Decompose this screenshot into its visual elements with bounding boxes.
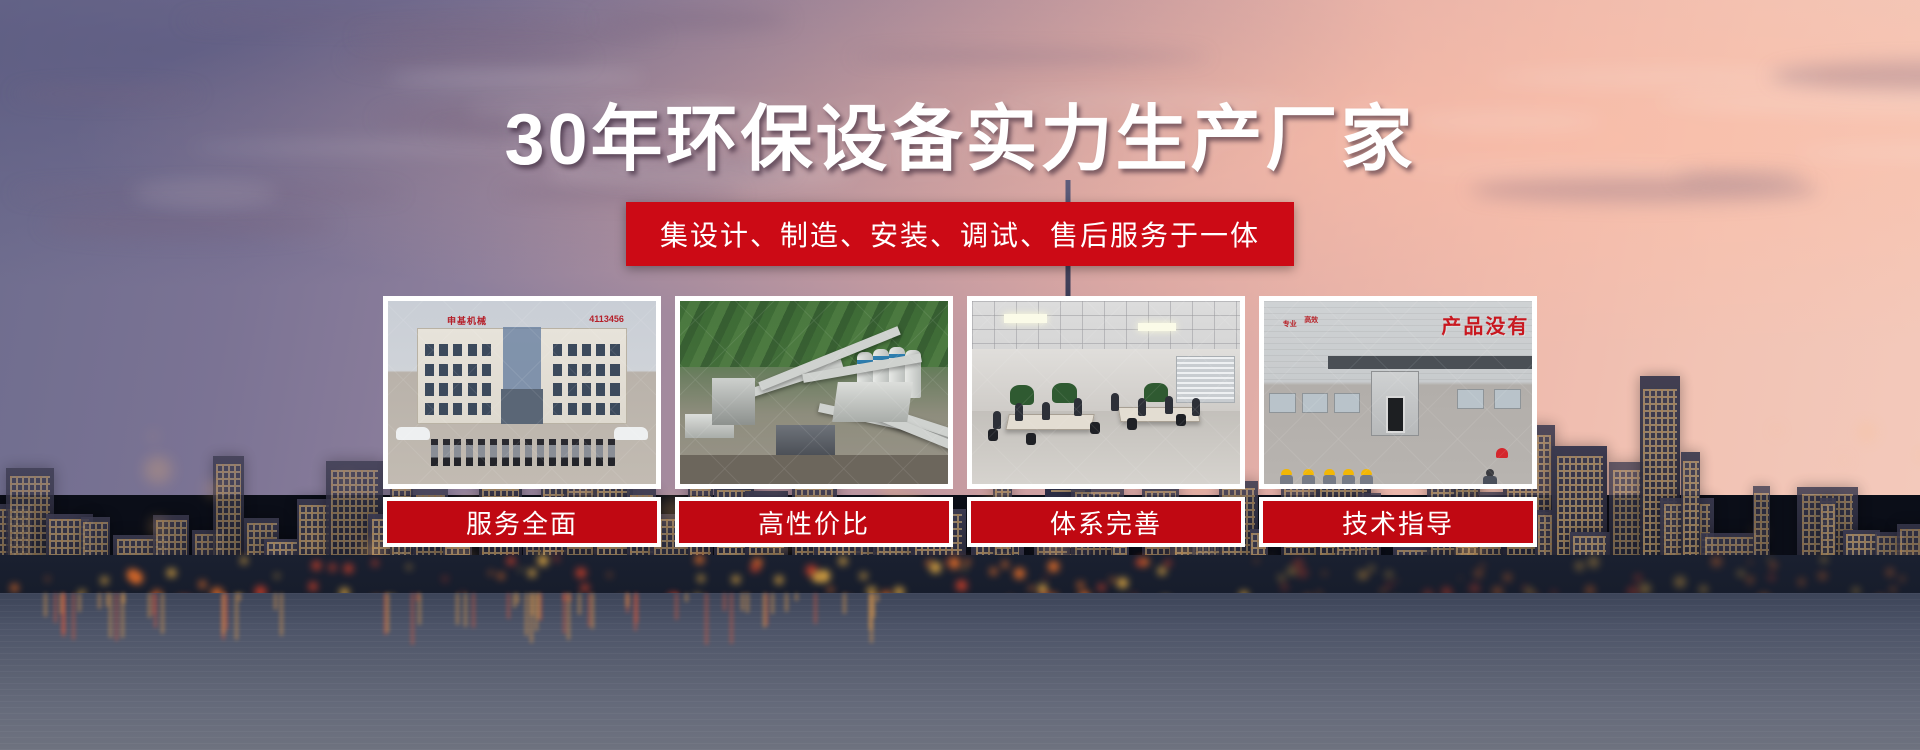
card-photo-industrial-plant — [675, 296, 953, 489]
subtitle-badge: 集设计、制造、安装、调试、售后服务于一体 — [626, 202, 1294, 266]
building-entrance — [501, 389, 544, 424]
building-phone-number: 4113456 — [589, 314, 624, 324]
factory-side-door — [1386, 396, 1405, 433]
feature-card[interactable]: 申基机械 4113456 服务全面 — [383, 296, 661, 547]
factory-window-band — [1328, 356, 1532, 369]
card-label[interactable]: 服务全面 — [383, 497, 661, 547]
card-label[interactable]: 高性价比 — [675, 497, 953, 547]
red-helmet-icon — [1496, 448, 1508, 458]
feature-card-list: 申基机械 4113456 服务全面 — [383, 296, 1537, 547]
window-blinds — [1176, 356, 1235, 404]
card-photo-workers: 产品没有 专业 高效 — [1259, 296, 1537, 489]
card-label[interactable]: 体系完善 — [967, 497, 1245, 547]
banner-content: 30年环保设备实力生产厂家 集设计、制造、安装、调试、售后服务于一体 申基机械 … — [0, 0, 1920, 750]
office-ceiling — [972, 301, 1240, 349]
building-atrium — [503, 327, 541, 393]
factory-sign-text: 产品没有 — [1441, 310, 1529, 339]
feature-card[interactable]: 体系完善 — [967, 296, 1245, 547]
factory-slogan-mid: 高效 — [1304, 317, 1318, 325]
card-label[interactable]: 技术指导 — [1259, 497, 1537, 547]
card-photo-office — [967, 296, 1245, 489]
building-company-sign: 申基机械 — [447, 314, 487, 327]
page-title: 30年环保设备实力生产厂家 — [504, 104, 1415, 176]
hero-banner: 30年环保设备实力生产厂家 集设计、制造、安装、调试、售后服务于一体 申基机械 … — [0, 0, 1920, 750]
card-photo-headquarters: 申基机械 4113456 — [383, 296, 661, 489]
factory-slogan-left: 专业 — [1283, 321, 1297, 329]
feature-card[interactable]: 高性价比 — [675, 296, 953, 547]
feature-card[interactable]: 产品没有 专业 高效 技术指导 — [1259, 296, 1537, 547]
